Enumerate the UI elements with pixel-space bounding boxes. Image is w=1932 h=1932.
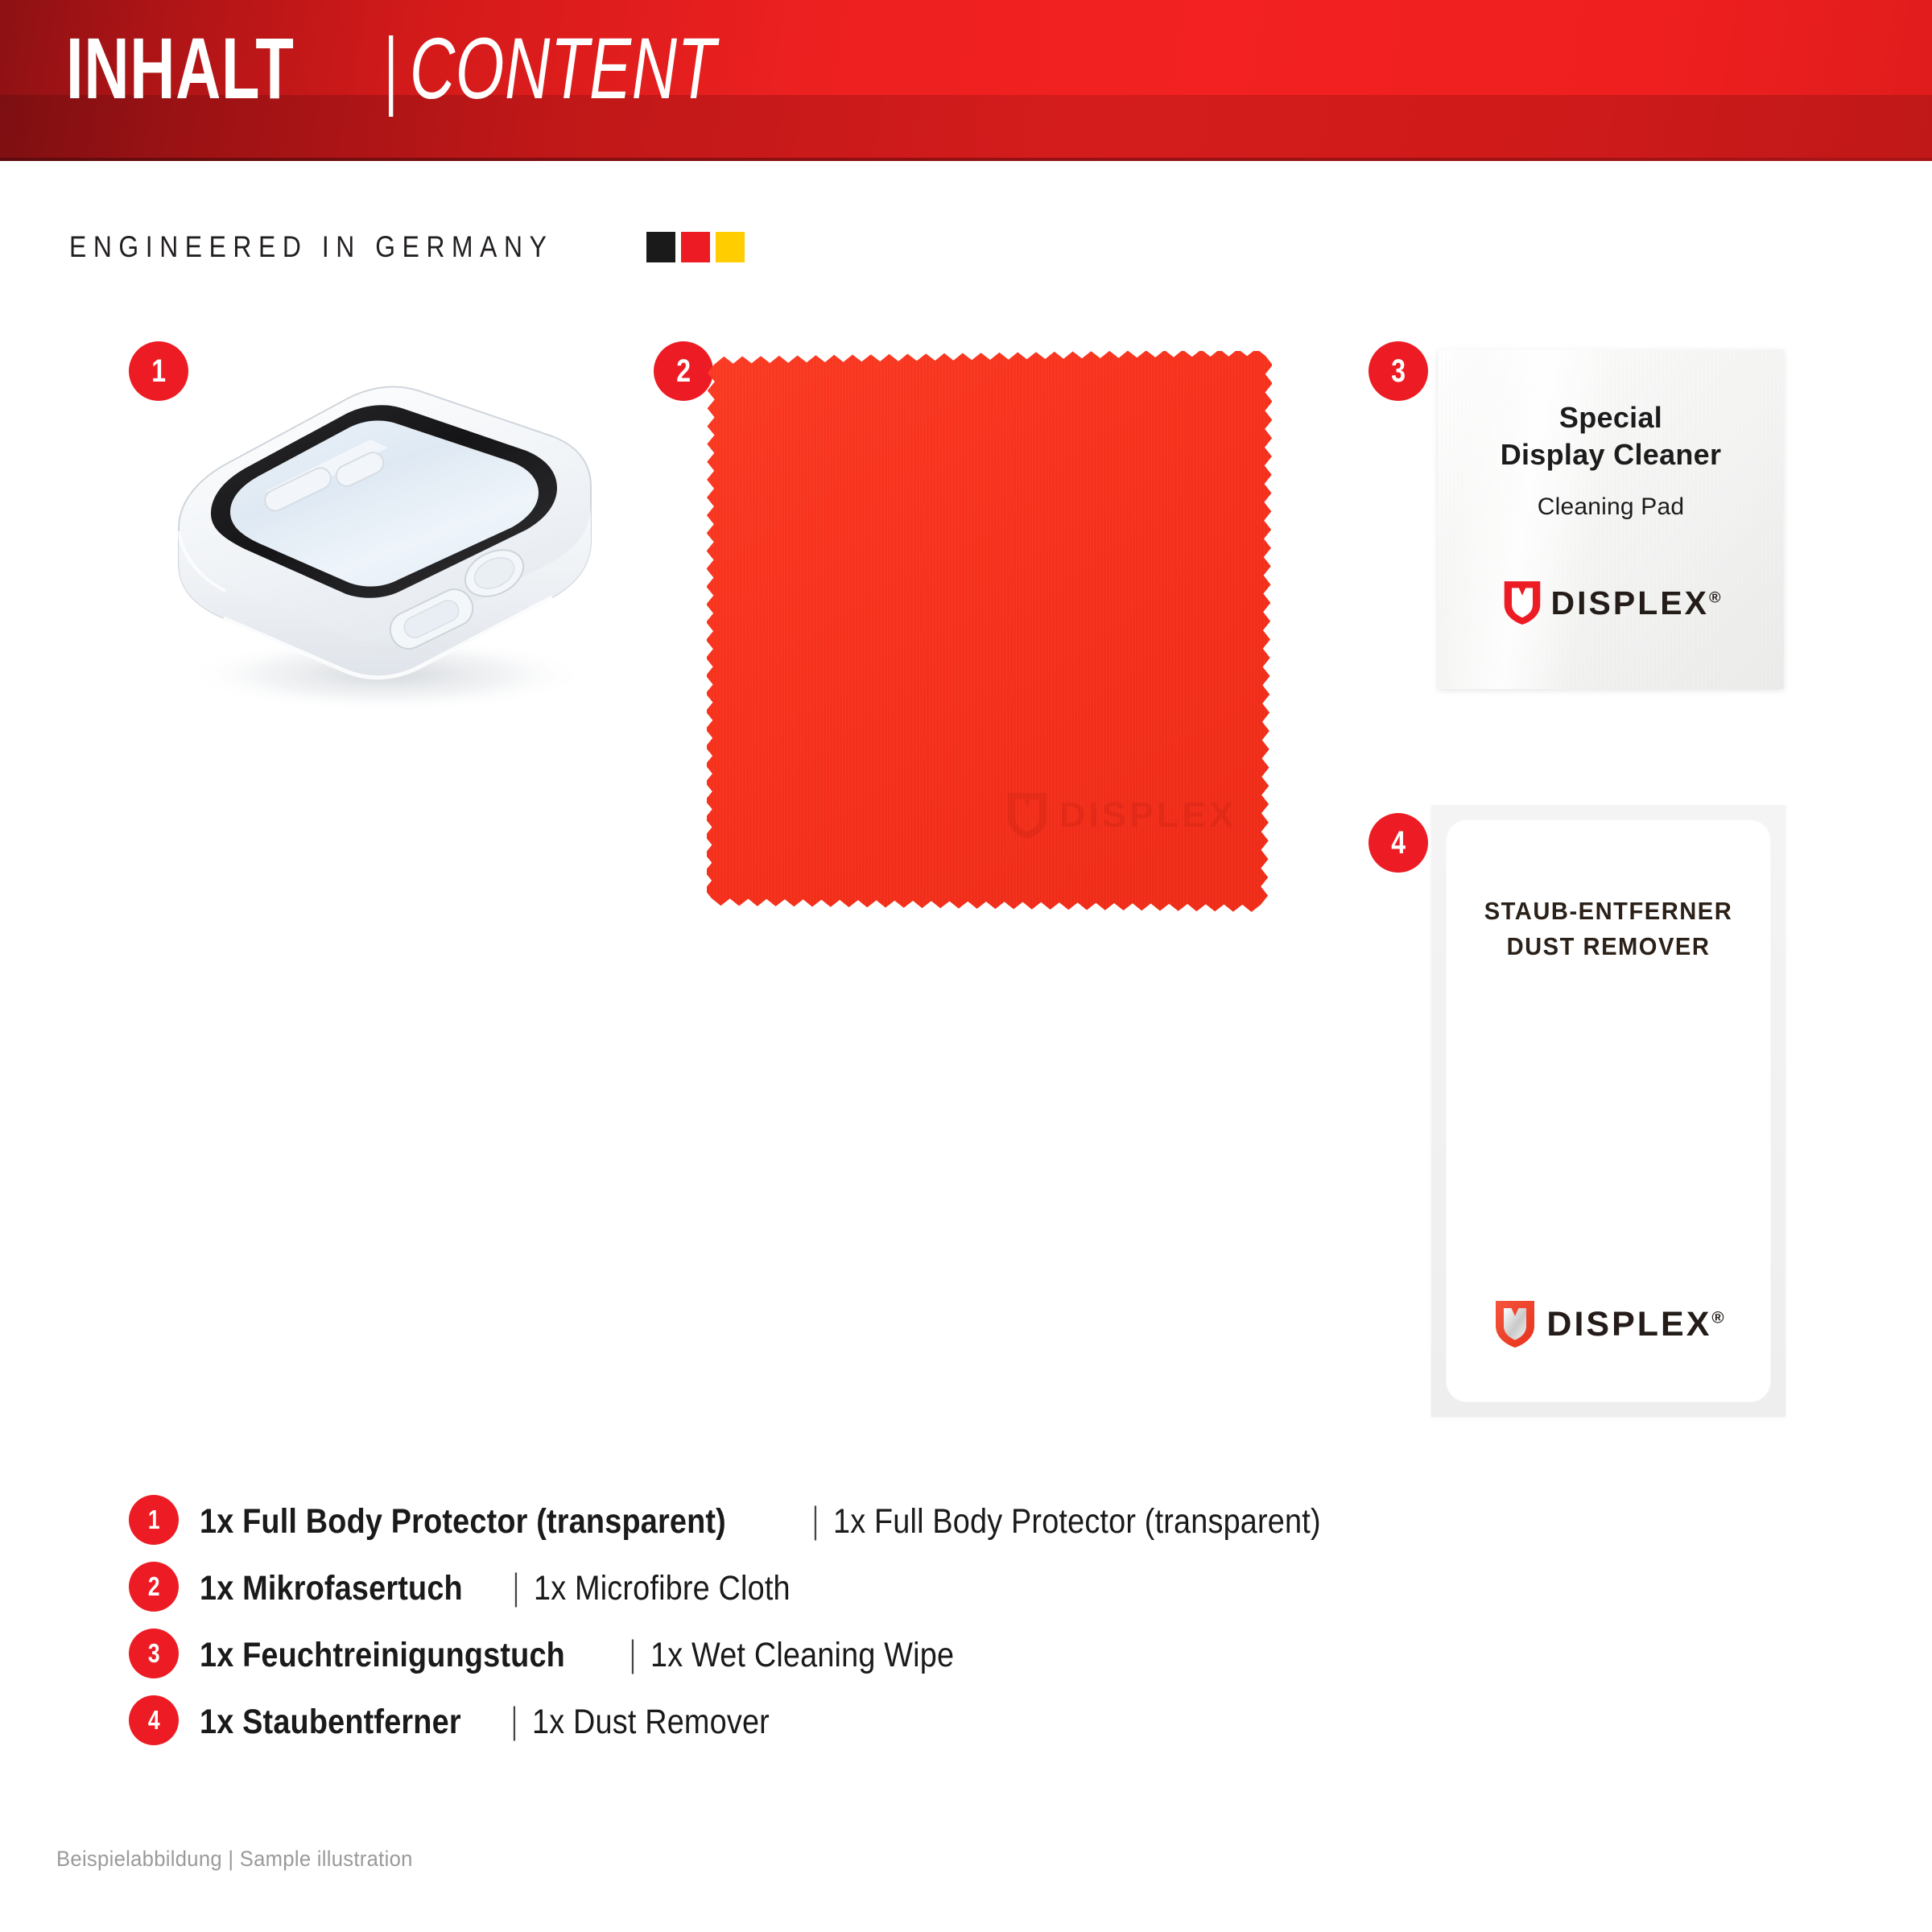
- product-badge-4: 4: [1368, 813, 1428, 873]
- sachet-text-block: Special Display Cleaner Cleaning Pad: [1438, 399, 1784, 523]
- dust-remover-displex-logo: DISPLEX®: [1446, 1299, 1771, 1349]
- dust-remover-text-block: STAUB-ENTFERNER DUST REMOVER: [1446, 894, 1771, 964]
- cloth-displex-watermark: DISPLEX: [1005, 791, 1235, 840]
- legend-german-3: 1x Feuchtreinigungstuch: [200, 1636, 565, 1675]
- legend-english-4: 1x Dust Remover: [532, 1703, 770, 1742]
- full-body-protector-image: [105, 370, 668, 724]
- legend-row: 4 1x Staubentferner | 1x Dust Remover: [129, 1686, 1819, 1753]
- legend-row: 2 1x Mikrofasertuch | 1x Microfibre Clot…: [129, 1553, 1819, 1620]
- legend-english-2: 1x Microfibre Cloth: [534, 1569, 791, 1608]
- legend-text-3: 1x Feuchtreinigungstuch | 1x Wet Cleanin…: [200, 1632, 995, 1675]
- sachet-displex-logo: DISPLEX®: [1438, 580, 1784, 626]
- legend-badge-2: 2: [129, 1562, 179, 1612]
- legend-english-3: 1x Wet Cleaning Wipe: [650, 1636, 954, 1675]
- page-header: INHALT|CONTENT: [0, 0, 1932, 161]
- sachet-line-3: Cleaning Pad: [1438, 491, 1784, 523]
- legend-separator-2: |: [514, 1565, 519, 1608]
- legend-separator-3: |: [630, 1632, 635, 1675]
- dust-remover-logo-text: DISPLEX®: [1546, 1305, 1724, 1344]
- microfibre-cloth-image: DISPLEX: [707, 351, 1272, 914]
- dust-remover-line-2: DUST REMOVER: [1455, 929, 1761, 964]
- dust-remover-inner-panel: STAUB-ENTFERNER DUST REMOVER: [1446, 819, 1771, 1402]
- sachet-line-1: Special: [1438, 399, 1784, 436]
- legend-badge-1: 1: [129, 1495, 179, 1545]
- legend-german-4: 1x Staubentferner: [200, 1703, 461, 1742]
- product-badge-3: 3: [1368, 341, 1428, 401]
- legend-german-1: 1x Full Body Protector (transparent): [200, 1502, 726, 1542]
- footer-disclaimer: Beispielabbildung | Sample illustration: [56, 1847, 413, 1872]
- flag-red-swatch: [681, 232, 710, 262]
- german-flag-icon: [646, 232, 750, 262]
- title-english: CONTENT: [410, 24, 716, 113]
- legend-list: 1 1x Full Body Protector (transparent) |…: [129, 1486, 1819, 1753]
- displex-shield-icon: [1501, 580, 1543, 626]
- page-title: INHALT|CONTENT: [66, 24, 836, 113]
- displex-shield-icon: [1492, 1299, 1538, 1349]
- title-german: INHALT: [66, 24, 295, 113]
- legend-badge-4: 4: [129, 1695, 179, 1745]
- engineered-in-germany: ENGINEERED IN GERMANY: [69, 230, 750, 264]
- legend-separator-4: |: [511, 1699, 517, 1742]
- title-separator: |: [383, 24, 399, 113]
- flag-black-swatch: [646, 232, 675, 262]
- cleaning-pad-sachet: Special Display Cleaner Cleaning Pad DIS…: [1438, 349, 1784, 689]
- legend-text-1: 1x Full Body Protector (transparent) | 1…: [200, 1498, 1387, 1542]
- legend-badge-3: 3: [129, 1629, 179, 1678]
- legend-german-2: 1x Mikrofasertuch: [200, 1569, 463, 1608]
- dust-remover-card: STAUB-ENTFERNER DUST REMOVER: [1431, 805, 1785, 1417]
- sachet-line-2: Display Cleaner: [1438, 436, 1784, 473]
- flag-gold-swatch: [716, 232, 745, 262]
- dust-remover-line-1: STAUB-ENTFERNER: [1455, 894, 1761, 929]
- header-bottom-rule: [0, 158, 1932, 161]
- legend-text-4: 1x Staubentferner | 1x Dust Remover: [200, 1699, 802, 1742]
- legend-row: 3 1x Feuchtreinigungstuch | 1x Wet Clean…: [129, 1620, 1819, 1686]
- cloth-watermark-text: DISPLEX: [1059, 795, 1237, 836]
- legend-row: 1 1x Full Body Protector (transparent) |…: [129, 1486, 1819, 1553]
- sachet-logo-text: DISPLEX®: [1551, 584, 1721, 622]
- displex-shield-icon: [1005, 791, 1050, 840]
- legend-english-1: 1x Full Body Protector (transparent): [833, 1502, 1321, 1542]
- watch-case-illustration: [105, 370, 668, 724]
- legend-text-2: 1x Mikrofasertuch | 1x Microfibre Cloth: [200, 1565, 826, 1608]
- engineered-label: ENGINEERED IN GERMANY: [69, 230, 553, 264]
- legend-separator-1: |: [812, 1498, 818, 1542]
